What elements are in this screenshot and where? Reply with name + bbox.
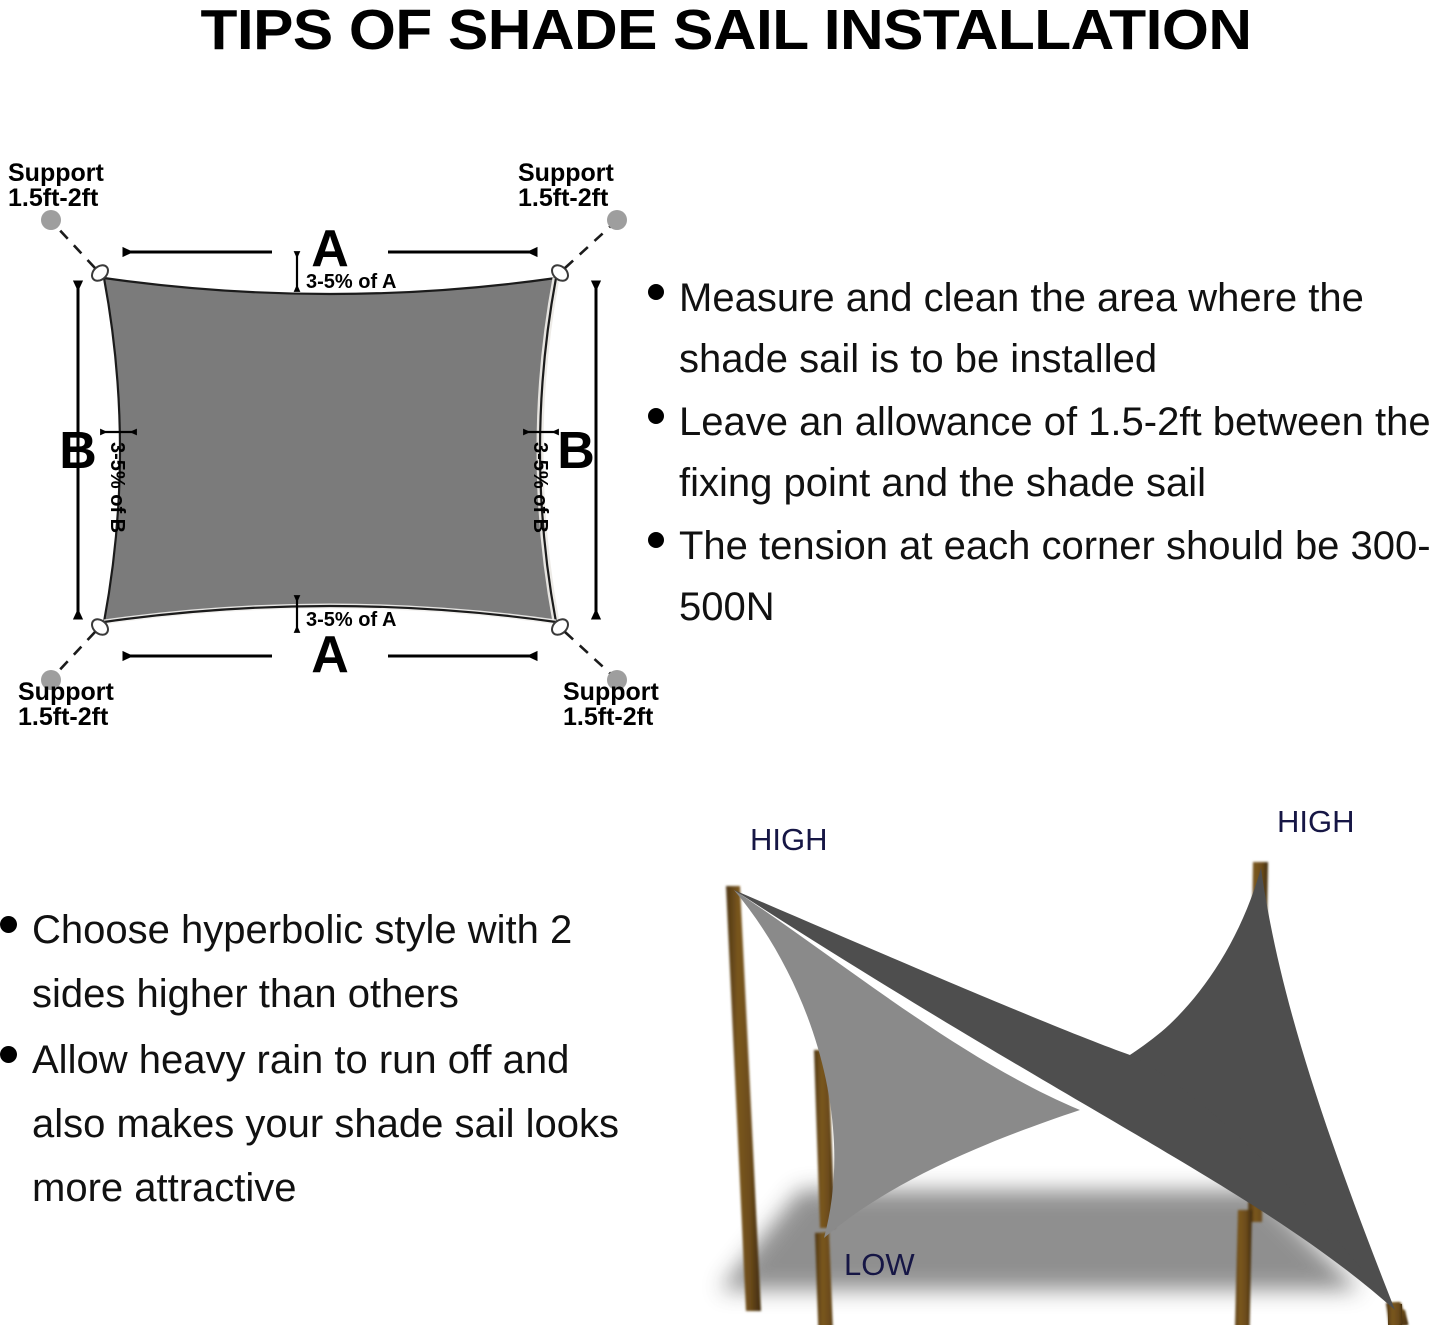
support-label-top-right-line1: Support <box>518 160 614 187</box>
installation-tips-list-top: Measure and clean the area where the sha… <box>648 268 1452 640</box>
dimension-b-right: B <box>557 282 596 618</box>
curve-depth-right: 3-5% of B <box>524 432 558 533</box>
support-label-top-left-line2: 1.5ft-2ft <box>8 184 99 212</box>
page-title: TIPS OF SHADE SAIL INSTALLATION <box>0 0 1452 62</box>
installation-tips-list-bottom: Choose hyperbolic style with 2 sides hig… <box>0 898 620 1222</box>
list-item: Measure and clean the area where the sha… <box>648 268 1452 390</box>
curve-depth-label-top: 3-5% of A <box>306 271 396 293</box>
support-line-bottom-right <box>565 632 613 676</box>
dimension-b-left: B <box>59 282 97 618</box>
support-line-top-right <box>565 224 613 268</box>
dimension-label-b-left: B <box>59 422 97 480</box>
support-dot-top-right <box>607 210 627 230</box>
support-label-top-left: Support 1.5ft-2ft <box>8 160 104 212</box>
curve-depth-label-bottom: 3-5% of A <box>306 609 396 631</box>
label-high-left: HIGH <box>750 822 828 857</box>
support-label-bottom-left-line2: 1.5ft-2ft <box>18 703 109 731</box>
dimension-label-a-bottom: A <box>311 626 349 684</box>
support-label-bottom-right: Support 1.5ft-2ft <box>563 678 659 731</box>
bullet-dot-icon <box>648 532 664 548</box>
tip-text: Leave an allowance of 1.5-2ft between th… <box>679 392 1452 514</box>
bullet-dot-icon <box>648 284 664 300</box>
sail-shape <box>104 278 556 622</box>
bullet-dot-icon <box>648 408 664 424</box>
list-item: Leave an allowance of 1.5-2ft between th… <box>648 392 1452 514</box>
tip-text: Allow heavy rain to run off and also mak… <box>32 1028 620 1220</box>
dimension-a-bottom: A <box>124 626 536 684</box>
support-dot-top-left <box>41 210 61 230</box>
curve-depth-label-right: 3-5% of B <box>529 442 551 533</box>
support-label-bottom-right-line2: 1.5ft-2ft <box>563 703 654 731</box>
label-high-right: HIGH <box>1277 804 1355 839</box>
hyperbolic-shade-sail-illustration: HIGH HIGH LOW LOW <box>660 790 1452 1325</box>
tip-text: The tension at each corner should be 300… <box>679 516 1452 638</box>
dimension-label-b-right: B <box>557 422 595 480</box>
support-label-top-right-line2: 1.5ft-2ft <box>518 184 609 212</box>
label-low-left: LOW <box>844 1247 915 1282</box>
curve-depth-label-left: 3-5% of B <box>106 442 128 533</box>
dimension-a-top: A <box>124 220 536 278</box>
pole-high-left <box>726 886 761 1311</box>
support-line-top-left <box>54 224 95 268</box>
dimension-label-a-top: A <box>311 220 349 278</box>
tip-text: Measure and clean the area where the sha… <box>679 268 1452 390</box>
support-label-bottom-right-line1: Support <box>563 678 659 706</box>
list-item: Allow heavy rain to run off and also mak… <box>0 1028 620 1220</box>
list-item: Choose hyperbolic style with 2 sides hig… <box>0 898 620 1026</box>
support-label-top-right: Support 1.5ft-2ft <box>518 160 614 212</box>
infographic-page: TIPS OF SHADE SAIL INSTALLATION <box>0 0 1452 1325</box>
shade-sail-dimension-diagram: A 3-5% of A A 3-5% of A B <box>0 160 660 740</box>
tip-text: Choose hyperbolic style with 2 sides hig… <box>32 898 620 1026</box>
bullet-dot-icon <box>0 1046 17 1063</box>
support-line-bottom-left <box>54 632 95 676</box>
support-label-top-left-line1: Support <box>8 160 104 187</box>
support-label-bottom-left: Support 1.5ft-2ft <box>18 678 114 731</box>
list-item: The tension at each corner should be 300… <box>648 516 1452 638</box>
bullet-dot-icon <box>0 916 17 933</box>
support-label-bottom-left-line1: Support <box>18 678 114 706</box>
